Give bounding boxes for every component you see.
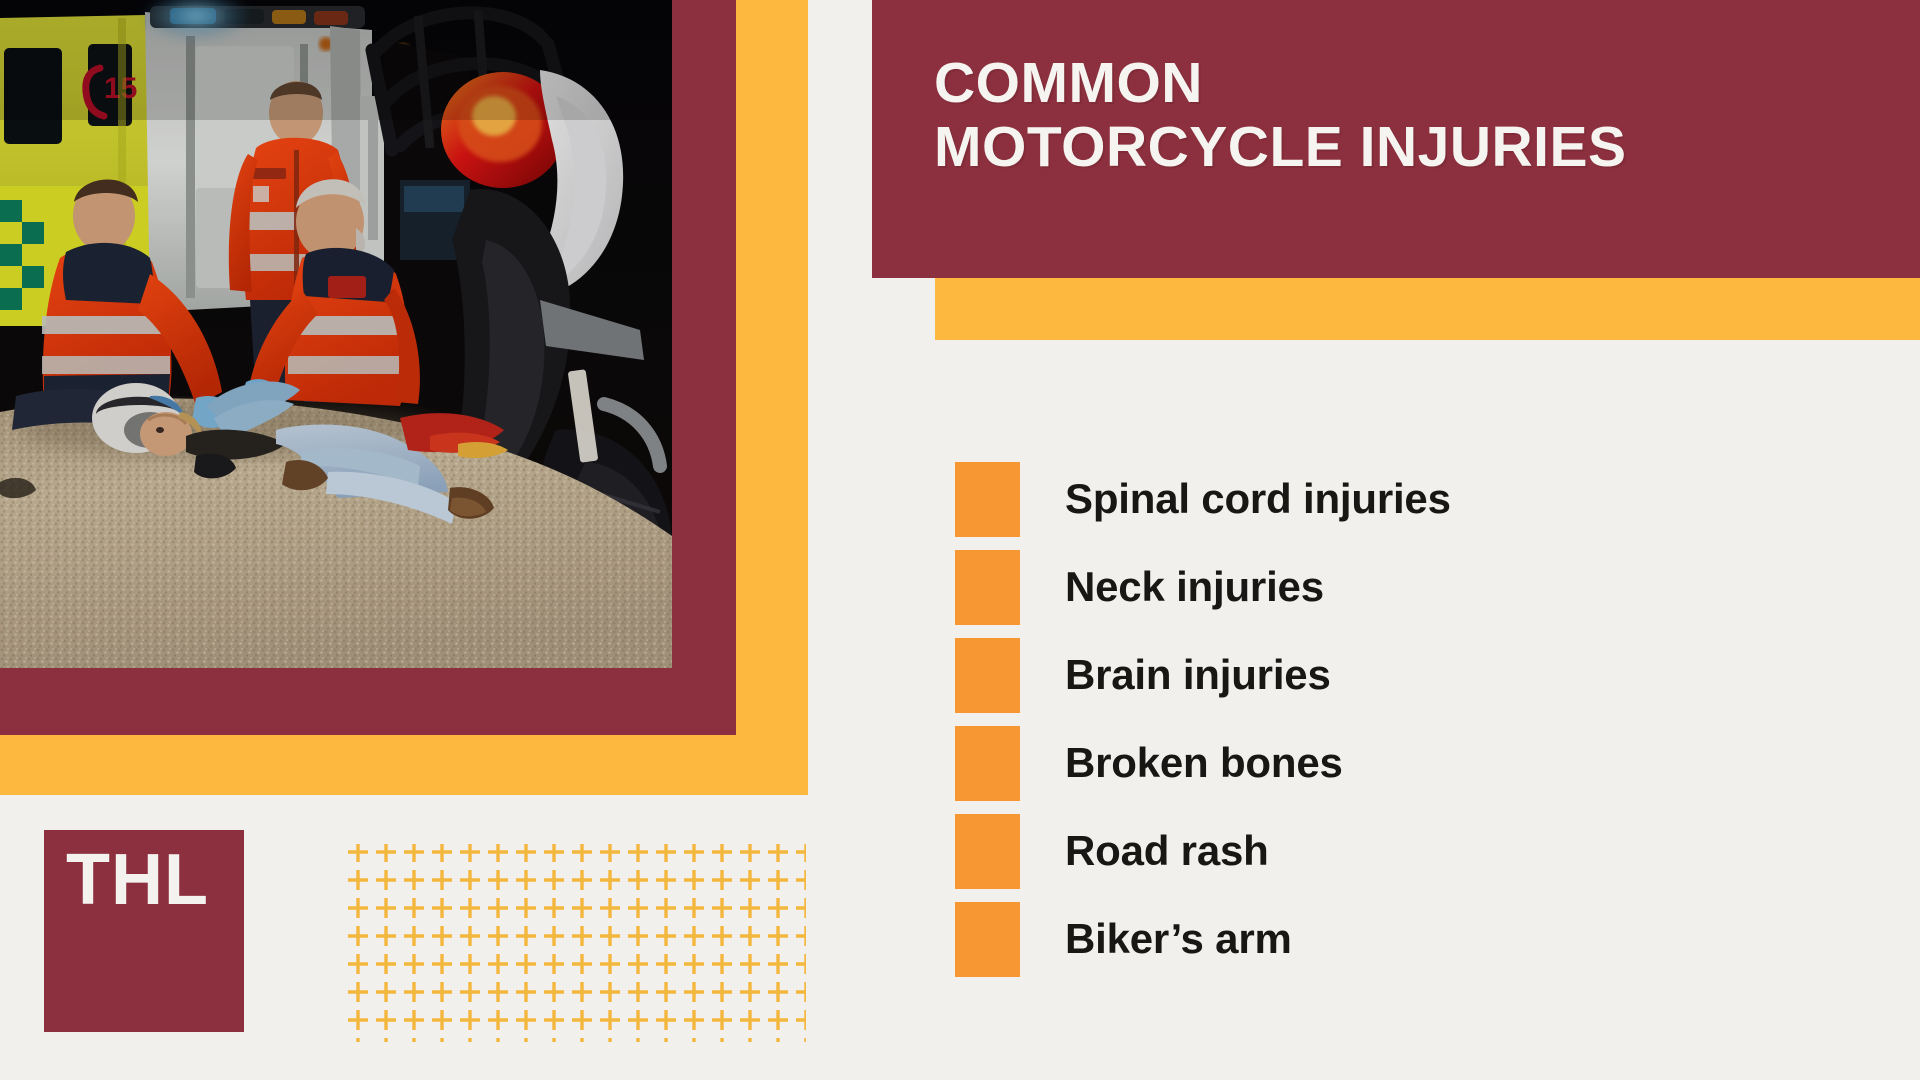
list-item: Broken bones: [955, 719, 1855, 807]
list-item-label: Road rash: [1065, 827, 1269, 875]
infographic-canvas: 15: [0, 0, 1920, 1080]
list-item: Spinal cord injuries: [955, 455, 1855, 543]
list-item-label: Spinal cord injuries: [1065, 475, 1451, 523]
list-item: Biker’s arm: [955, 895, 1855, 983]
list-item-label: Broken bones: [1065, 739, 1343, 787]
bullet-square-icon: [955, 726, 1020, 801]
list-item: Road rash: [955, 807, 1855, 895]
list-item: Brain injuries: [955, 631, 1855, 719]
bullet-square-icon: [955, 638, 1020, 713]
injury-list: Spinal cord injuries Neck injuries Brain…: [955, 455, 1855, 983]
plus-grid-pattern: [288, 838, 808, 1050]
accident-scene-photo: 15: [0, 0, 672, 668]
page-title: COMMON MOTORCYCLE INJURIES: [934, 52, 1914, 180]
list-item-label: Biker’s arm: [1065, 915, 1292, 963]
page-title-line1: COMMON: [934, 51, 1203, 115]
thl-logo[interactable]: THL: [44, 830, 244, 1032]
accent-bar-yellow: [935, 278, 1920, 340]
list-item-label: Neck injuries: [1065, 563, 1324, 611]
title-block: COMMON MOTORCYCLE INJURIES: [872, 0, 1920, 278]
list-item: Neck injuries: [955, 543, 1855, 631]
bullet-square-icon: [955, 462, 1020, 537]
photo-frame-yellow: 15: [0, 0, 808, 795]
bullet-square-icon: [955, 550, 1020, 625]
bullet-square-icon: [955, 902, 1020, 977]
bullet-square-icon: [955, 814, 1020, 889]
thl-logo-text: THL: [66, 844, 209, 916]
page-title-line2: MOTORCYCLE INJURIES: [934, 116, 1914, 180]
list-item-label: Brain injuries: [1065, 651, 1331, 699]
photo-frame-maroon: 15: [0, 0, 736, 735]
